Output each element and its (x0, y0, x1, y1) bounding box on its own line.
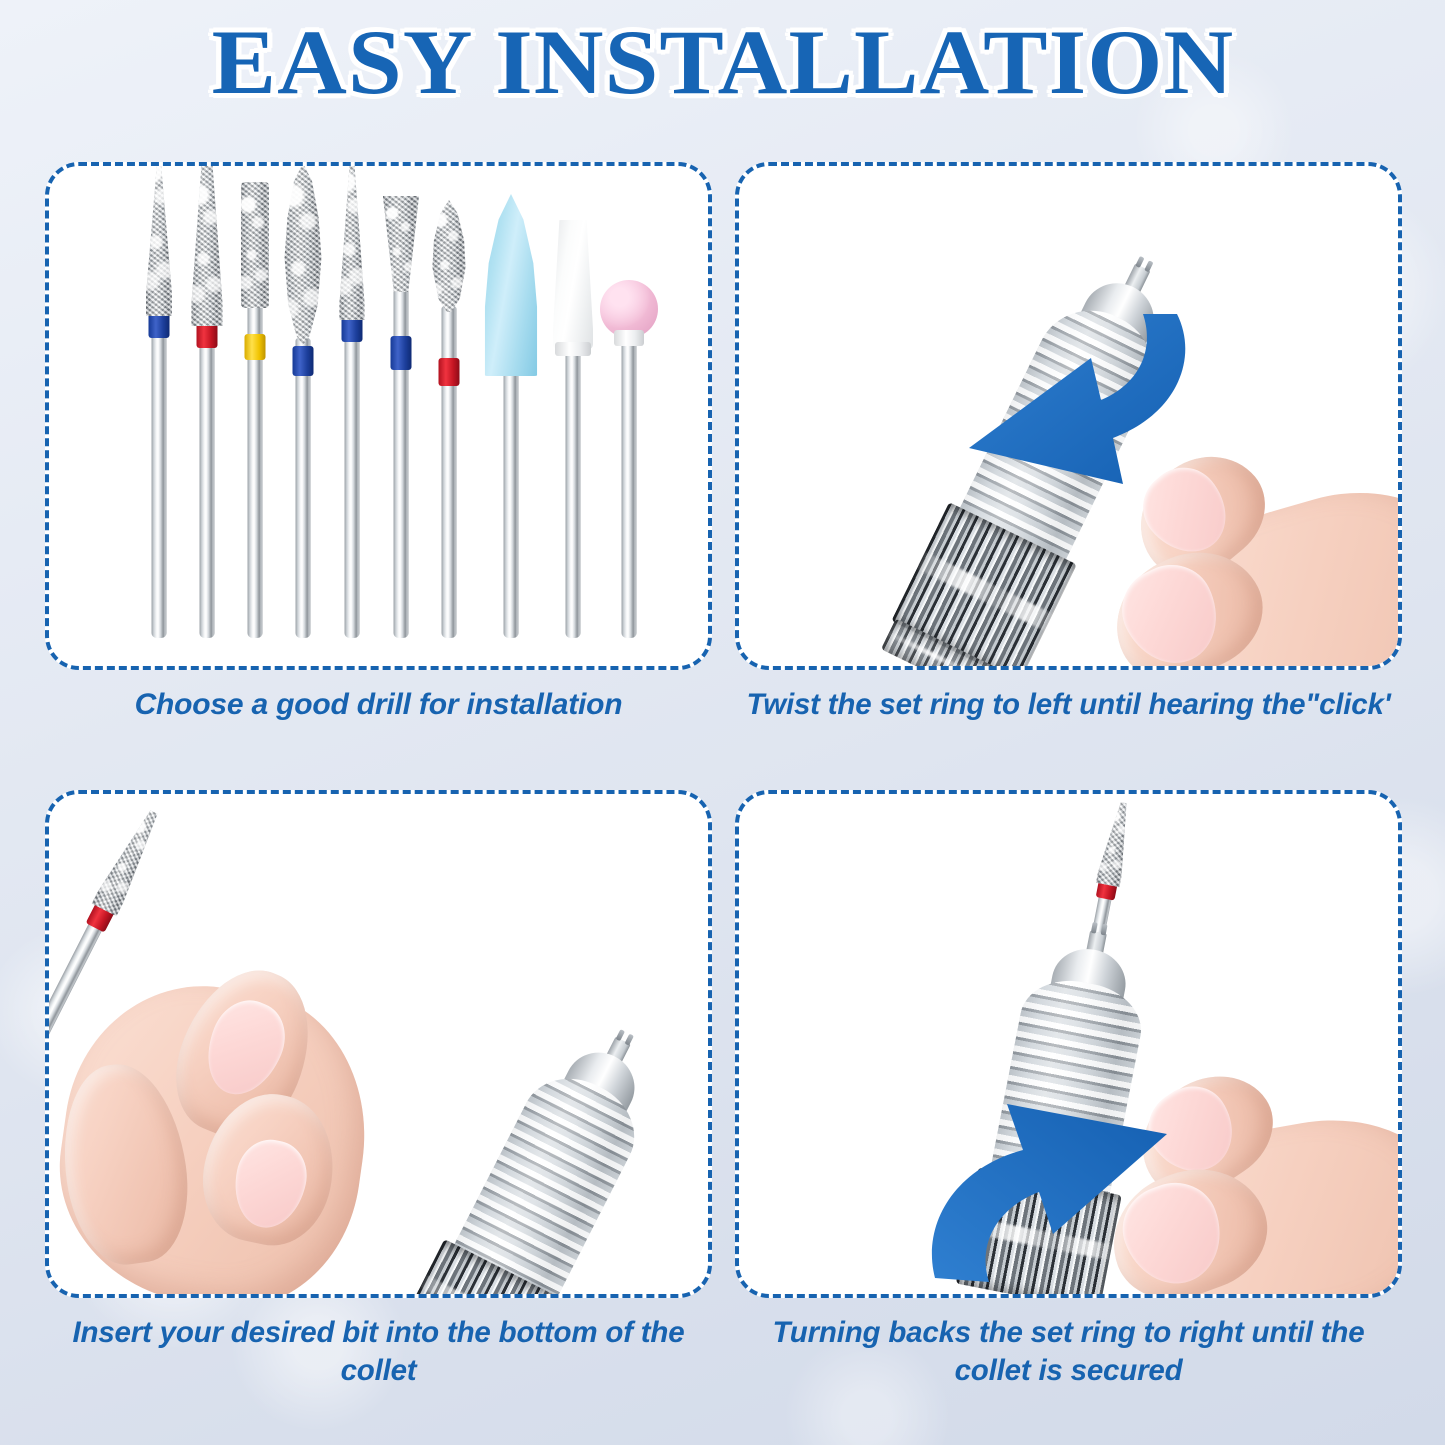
twist-left-arrow (877, 288, 1207, 528)
bit-head (146, 162, 172, 316)
drill-bit-row (49, 166, 712, 670)
band-yellow (245, 334, 266, 360)
silicone-collar (555, 342, 591, 356)
silicone-collar (614, 330, 644, 346)
bit-head (241, 182, 269, 308)
bit-head (1096, 800, 1136, 887)
drill-bits-panel (45, 162, 712, 670)
tighten-right-panel (735, 790, 1402, 1298)
bit-head (192, 166, 223, 326)
bit-head (383, 196, 419, 292)
bit-head (283, 163, 324, 345)
step-2: Twist the set ring to left until hearing… (735, 162, 1402, 724)
page-title: EASY INSTALLATION (211, 16, 1234, 108)
insert-bit-panel (45, 790, 712, 1298)
bit-head (92, 806, 167, 917)
twist-left-panel (735, 162, 1402, 670)
step-4-caption: Turning backs the set ring to right unti… (735, 1314, 1402, 1390)
step-3: Insert your desired bit into the bottom … (45, 790, 712, 1390)
installed-drill-bit (1084, 800, 1136, 942)
band-red (439, 358, 460, 386)
silicone-head (480, 194, 542, 376)
step-3-caption: Insert your desired bit into the bottom … (45, 1314, 712, 1390)
silicone-head (553, 220, 593, 350)
tighten-right-arrow (911, 1082, 1241, 1298)
bit-head (340, 162, 365, 320)
band-blue (391, 336, 412, 370)
step-1: Choose a good drill for installation (45, 162, 712, 724)
step-2-caption: Twist the set ring to left until hearing… (735, 686, 1402, 724)
page-title-wrap: EASY INSTALLATION (0, 16, 1445, 108)
band-blue (293, 346, 314, 376)
step-1-caption: Choose a good drill for installation (45, 686, 712, 724)
steps-grid: Choose a good drill for installation (0, 150, 1445, 1440)
step-4: Turning backs the set ring to right unti… (735, 790, 1402, 1390)
bit-head (431, 200, 467, 312)
